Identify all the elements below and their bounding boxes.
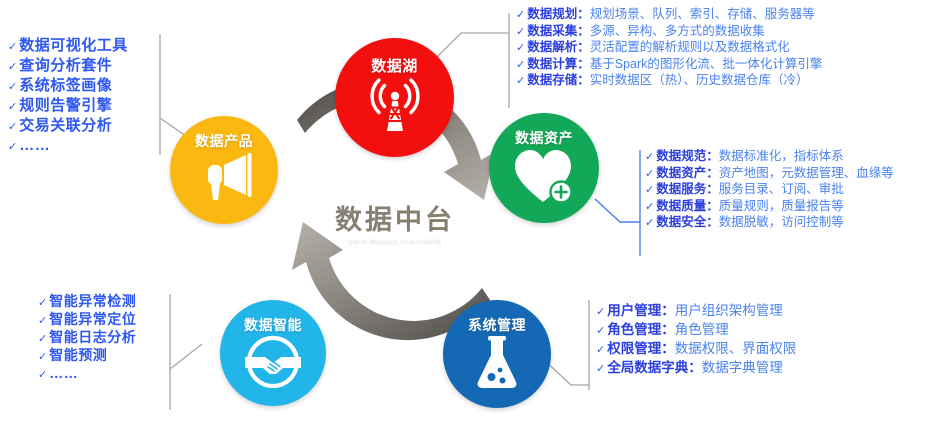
check-icon: ✓ — [38, 370, 47, 381]
annotation-item: ✓ 数据服务 ： 服务目录、订阅、审批 — [645, 183, 894, 196]
check-icon: ✓ — [38, 316, 47, 327]
flask-icon — [474, 335, 520, 389]
check-icon: ✓ — [38, 298, 47, 309]
annotation-item: ✓ 数据规划 ： 规划场景、队列、索引、存储、服务器等 — [516, 8, 822, 21]
check-icon: ✓ — [8, 142, 17, 153]
leader-data-intelligence — [170, 294, 202, 410]
node-data-intelligence[interactable]: 数据智能 — [220, 300, 326, 406]
annotation-desc: 实时数据区（热）、历史数据仓库（冷） — [590, 74, 809, 87]
annotation-desc: 数据字典管理 — [702, 361, 783, 375]
annotation-colon: ： — [577, 8, 590, 21]
leader-data-asset — [595, 150, 640, 256]
annotation-desc: 用户组织架构管理 — [675, 304, 783, 318]
annotation-item: ✓ 数据安全 ： 数据脱敏，访问控制等 — [645, 216, 894, 229]
check-icon: ✓ — [596, 345, 605, 356]
annotation-term: 全局数据字典 — [607, 361, 688, 375]
annotation-term: 系统标签画像 — [19, 78, 112, 93]
annotation-term: 数据规范 — [656, 150, 706, 163]
node-data-lake-label: 数据湖 — [371, 55, 418, 76]
check-icon: ✓ — [516, 10, 525, 21]
annotation-colon: ： — [661, 342, 675, 356]
annotation-item: ✓ 智能异常定位 — [38, 312, 136, 327]
annotation-desc: 数据权限、界面权限 — [675, 342, 797, 356]
annotation-desc: 基于Spark的图形化流、批一体化计算引擎 — [590, 58, 823, 71]
annotation-desc: 角色管理 — [675, 323, 729, 337]
annotation-colon: ： — [688, 361, 702, 375]
annotation-term: 数据存储 — [527, 74, 577, 87]
node-data-asset[interactable]: 数据资产 — [489, 113, 599, 223]
check-icon: ✓ — [8, 42, 17, 53]
annotation-item: ✓ 数据解析 ： 灵活配置的解析规则以及数据格式化 — [516, 41, 822, 54]
annotation-colon: ： — [706, 183, 719, 196]
annotation-term: 数据质量 — [656, 200, 706, 213]
check-icon: ✓ — [645, 152, 654, 163]
annotation-colon: ： — [661, 323, 675, 337]
annotation-item: ✓ 规则告警引擎 — [8, 98, 128, 113]
annotation-item: ✓ 数据可视化工具 — [8, 38, 128, 53]
check-icon: ✓ — [8, 122, 17, 133]
annotation-colon: ： — [706, 200, 719, 213]
annotation-term: 数据解析 — [527, 41, 577, 54]
annotation-term: 数据安全 — [656, 216, 706, 229]
check-icon: ✓ — [645, 169, 654, 180]
annotation-item: ✓ …… — [38, 366, 136, 381]
annotation-term: 数据服务 — [656, 183, 706, 196]
broadcast-tower-icon — [368, 76, 422, 134]
annotation-item: ✓ 全局数据字典 ： 数据字典管理 — [596, 361, 796, 375]
check-icon: ✓ — [645, 185, 654, 196]
check-icon: ✓ — [596, 326, 605, 337]
annotation-item: ✓ 交易关联分析 — [8, 118, 128, 133]
handshake-icon — [243, 335, 303, 389]
annotation-system-management: ✓ 用户管理 ： 用户组织架构管理 ✓ 角色管理 ： 角色管理 ✓ 权限管理 ：… — [596, 304, 796, 380]
annotation-term: 查询分析套件 — [19, 58, 112, 73]
annotation-term: 智能预测 — [49, 348, 107, 362]
center-caption: 数据中台 DATA MIDDLE PLATFORM — [300, 206, 490, 246]
check-icon: ✓ — [596, 364, 605, 375]
annotation-item: ✓ 数据采集 ： 多源、异构、多方式的数据收集 — [516, 25, 822, 38]
annotation-item: ✓ 查询分析套件 — [8, 58, 128, 73]
annotation-desc: 数据标准化，指标体系 — [719, 150, 844, 163]
check-icon: ✓ — [516, 43, 525, 54]
annotation-term: 角色管理 — [607, 323, 661, 337]
annotation-item: ✓ 数据质量 ： 质量规则，质量报告等 — [645, 200, 894, 213]
annotation-term: 数据计算 — [527, 58, 577, 71]
annotation-item: ✓ 数据规范 ： 数据标准化，指标体系 — [645, 150, 894, 163]
check-icon: ✓ — [645, 218, 654, 229]
annotation-desc: 多源、异构、多方式的数据收集 — [590, 25, 765, 38]
node-data-product[interactable]: 数据产品 — [170, 116, 278, 224]
node-system-management-label: 系统管理 — [468, 315, 526, 335]
annotation-desc: 质量规则，质量报告等 — [719, 200, 844, 213]
annotation-item: ✓ 智能预测 — [38, 348, 136, 363]
annotation-data-intelligence: ✓ 智能异常检测 ✓ 智能异常定位 ✓ 智能日志分析 ✓ 智能预测 ✓ …… — [38, 294, 136, 384]
annotation-term: 数据采集 — [527, 25, 577, 38]
annotation-colon: ： — [577, 25, 590, 38]
annotation-colon: ： — [661, 304, 675, 318]
annotation-desc: 灵活配置的解析规则以及数据格式化 — [590, 41, 790, 54]
node-data-product-label: 数据产品 — [195, 131, 253, 151]
check-icon: ✓ — [516, 60, 525, 71]
annotation-term: 智能异常定位 — [49, 312, 136, 326]
check-icon: ✓ — [516, 76, 525, 87]
annotation-term: 权限管理 — [607, 342, 661, 356]
annotation-item: ✓ …… — [8, 138, 128, 153]
annotation-colon: ： — [577, 58, 590, 71]
annotation-item: ✓ 智能日志分析 — [38, 330, 136, 345]
annotation-term: 数据规划 — [527, 8, 577, 21]
annotation-colon: ： — [706, 216, 719, 229]
annotation-term: 规则告警引擎 — [19, 98, 112, 113]
annotation-term: 数据资产 — [656, 167, 706, 180]
annotation-term: …… — [19, 138, 50, 153]
annotation-data-product: ✓ 数据可视化工具 ✓ 查询分析套件 ✓ 系统标签画像 ✓ 规则告警引擎 ✓ 交… — [8, 38, 128, 158]
check-icon: ✓ — [8, 62, 17, 73]
annotation-item: ✓ 数据存储 ： 实时数据区（热）、历史数据仓库（冷） — [516, 74, 822, 87]
node-data-intelligence-label: 数据智能 — [244, 315, 302, 335]
annotation-term: …… — [49, 366, 78, 380]
check-icon: ✓ — [516, 27, 525, 38]
annotation-term: 智能日志分析 — [49, 330, 136, 344]
check-icon: ✓ — [645, 202, 654, 213]
annotation-item: ✓ 权限管理 ： 数据权限、界面权限 — [596, 342, 796, 356]
heart-plus-icon — [513, 148, 575, 206]
annotation-term: 数据可视化工具 — [19, 38, 128, 53]
center-subtitle: DATA MIDDLE PLATFORM — [300, 240, 490, 246]
annotation-item: ✓ 智能异常检测 — [38, 294, 136, 309]
megaphone-icon — [194, 151, 254, 203]
check-icon: ✓ — [38, 352, 47, 363]
annotation-item: ✓ 数据计算 ： 基于Spark的图形化流、批一体化计算引擎 — [516, 58, 822, 71]
annotation-item: ✓ 系统标签画像 — [8, 78, 128, 93]
annotation-item: ✓ 数据资产 ： 资产地图，元数据管理、血缘等 — [645, 167, 894, 180]
check-icon: ✓ — [38, 334, 47, 345]
check-icon: ✓ — [596, 307, 605, 318]
annotation-colon: ： — [577, 74, 590, 87]
annotation-term: 智能异常检测 — [49, 294, 136, 308]
center-title: 数据中台 — [300, 206, 490, 236]
annotation-term: 用户管理 — [607, 304, 661, 318]
check-icon: ✓ — [8, 82, 17, 93]
annotation-term: 交易关联分析 — [19, 118, 112, 133]
annotation-desc: 数据脱敏，访问控制等 — [719, 216, 844, 229]
node-system-management[interactable]: 系统管理 — [443, 300, 551, 408]
annotation-desc: 服务目录、订阅、审批 — [719, 183, 844, 196]
annotation-data-lake: ✓ 数据规划 ： 规划场景、队列、索引、存储、服务器等 ✓ 数据采集 ： 多源、… — [516, 8, 822, 91]
annotation-data-asset: ✓ 数据规范 ： 数据标准化，指标体系 ✓ 数据资产 ： 资产地图，元数据管理、… — [645, 150, 894, 233]
annotation-item: ✓ 用户管理 ： 用户组织架构管理 — [596, 304, 796, 318]
annotation-desc: 规划场景、队列、索引、存储、服务器等 — [590, 8, 815, 21]
node-data-lake[interactable]: 数据湖 — [335, 38, 454, 157]
annotation-colon: ： — [706, 167, 719, 180]
check-icon: ✓ — [8, 102, 17, 113]
annotation-colon: ： — [706, 150, 719, 163]
diagram-canvas: 数据中台 DATA MIDDLE PLATFORM 数据湖 — [0, 0, 931, 428]
node-data-asset-label: 数据资产 — [515, 128, 573, 148]
annotation-item: ✓ 角色管理 ： 角色管理 — [596, 323, 796, 337]
annotation-desc: 资产地图，元数据管理、血缘等 — [719, 167, 894, 180]
annotation-colon: ： — [577, 41, 590, 54]
